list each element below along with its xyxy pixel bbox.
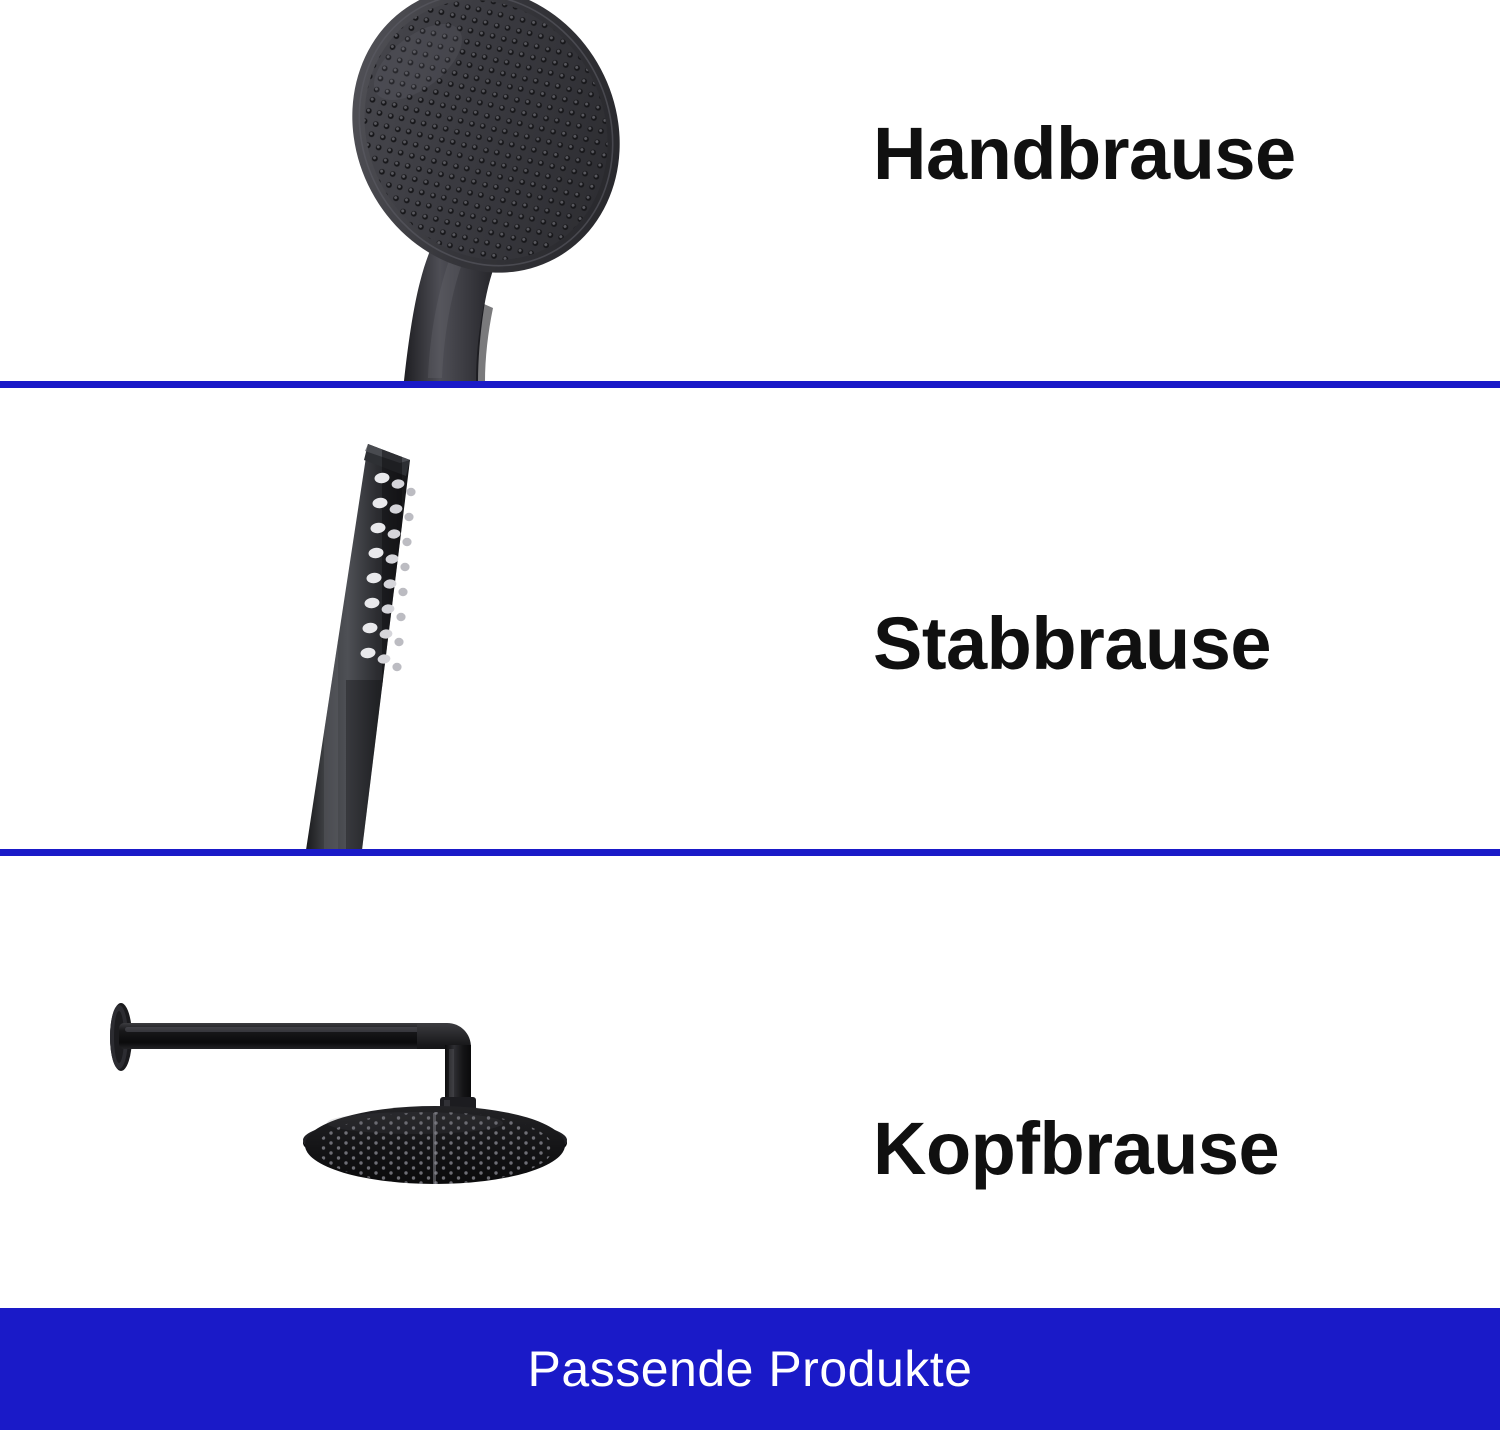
shower-arm xyxy=(119,1023,429,1049)
product-feature-infographic: Handbrause xyxy=(0,0,1500,1430)
section-label-kopfbrause: Kopfbrause xyxy=(873,1112,1279,1186)
section-label-stabbrause: Stabbrause xyxy=(873,607,1271,681)
stick-shower-icon xyxy=(250,430,530,855)
hand-shower-icon xyxy=(300,0,720,390)
divider-2 xyxy=(0,849,1500,856)
footer-banner: Passende Produkte xyxy=(0,1308,1500,1430)
footer-banner-text: Passende Produkte xyxy=(528,1344,973,1394)
divider-1 xyxy=(0,381,1500,388)
section-label-handbrause: Handbrause xyxy=(873,117,1296,191)
rain-shower-head-icon xyxy=(95,985,655,1200)
